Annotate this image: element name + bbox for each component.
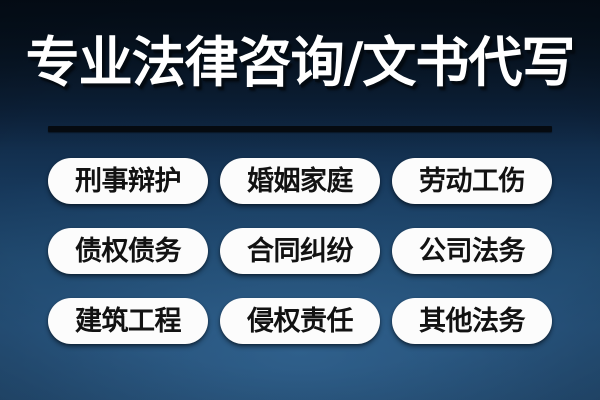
service-pill-debt-claims[interactable]: 债权债务 bbox=[48, 228, 208, 274]
title-divider bbox=[48, 126, 552, 132]
service-pill-contract-disputes[interactable]: 合同纠纷 bbox=[220, 228, 380, 274]
service-pill-tort-liability[interactable]: 侵权责任 bbox=[220, 298, 380, 344]
service-row: 刑事辩护 婚姻家庭 劳动工伤 bbox=[48, 158, 552, 204]
service-row: 建筑工程 侵权责任 其他法务 bbox=[48, 298, 552, 344]
service-pill-label: 侵权责任 bbox=[247, 308, 353, 335]
service-pill-construction-engineering[interactable]: 建筑工程 bbox=[48, 298, 208, 344]
legal-service-poster: 专业法律咨询/文书代写 刑事辩护 婚姻家庭 劳动工伤 债权债务 合同 bbox=[0, 0, 600, 400]
service-pill-label: 其他法务 bbox=[419, 308, 525, 335]
service-pill-grid: 刑事辩护 婚姻家庭 劳动工伤 债权债务 合同纠纷 公司法务 bbox=[48, 158, 552, 344]
service-row: 债权债务 合同纠纷 公司法务 bbox=[48, 228, 552, 274]
service-pill-criminal-defense[interactable]: 刑事辩护 bbox=[48, 158, 208, 204]
service-pill-label: 劳动工伤 bbox=[419, 168, 525, 195]
service-pill-marriage-family[interactable]: 婚姻家庭 bbox=[220, 158, 380, 204]
service-pill-label: 合同纠纷 bbox=[247, 238, 353, 265]
service-pill-label: 建筑工程 bbox=[75, 308, 181, 335]
page-title: 专业法律咨询/文书代写 bbox=[0, 32, 600, 94]
service-pill-labor-injury[interactable]: 劳动工伤 bbox=[392, 158, 552, 204]
service-pill-label: 公司法务 bbox=[419, 238, 525, 265]
service-pill-label: 婚姻家庭 bbox=[247, 168, 353, 195]
service-pill-label: 刑事辩护 bbox=[75, 168, 181, 195]
service-pill-label: 债权债务 bbox=[75, 238, 181, 265]
poster-content: 专业法律咨询/文书代写 刑事辩护 婚姻家庭 劳动工伤 债权债务 合同 bbox=[0, 0, 600, 400]
service-pill-other-legal[interactable]: 其他法务 bbox=[392, 298, 552, 344]
service-pill-corporate-legal[interactable]: 公司法务 bbox=[392, 228, 552, 274]
